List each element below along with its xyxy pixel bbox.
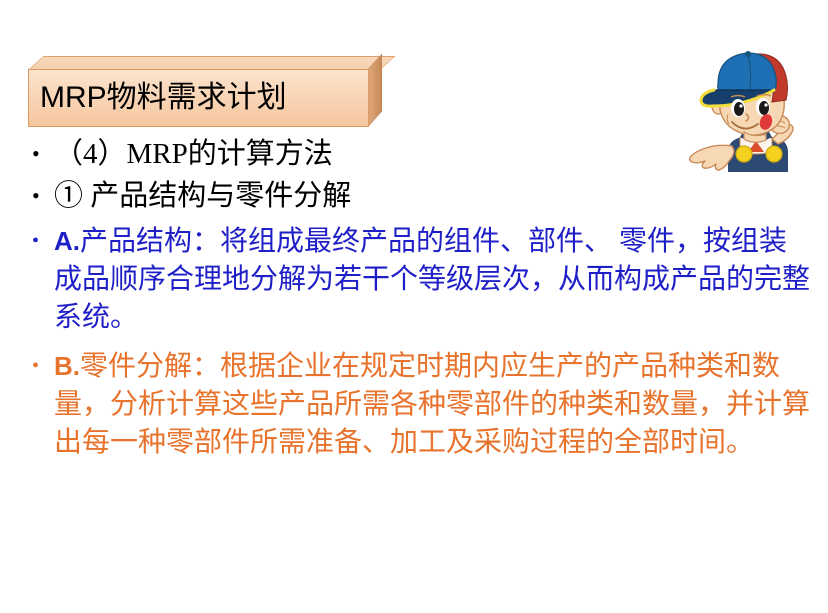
eye-right-glint [764,103,767,106]
cap-crown [718,53,777,92]
eye-left-pupil [734,102,744,116]
bullet-marker-icon: • [20,175,54,217]
bullet-marker-icon: • [20,347,54,385]
bullet-item-2: • ① 产品结构与零件分解 [20,175,810,217]
cartoon-boy-image [688,44,820,172]
bullet-marker-icon: • [20,222,54,260]
cap-top-button [745,51,751,57]
eye-right-pupil [759,101,769,115]
bullet-paragraph-a: A.产品结构：将组成最终产品的组件、部件、 零件，按组装成品顺序合理地分解为若干… [54,222,810,337]
title-box-top-bevel [28,56,396,70]
page-title: MRP物料需求计划 [29,83,287,113]
bullet-item-4: • B.零件分解：根据企业在规定时期内应生产的产品种类和数量，分析计算这些产品所… [20,347,810,462]
bullet-marker-icon: • [20,133,54,175]
paragraph-a-label: A. [54,226,80,256]
left-hand-open [690,145,734,170]
eye-left-glint [739,104,742,107]
slide-body: • （4）MRP的计算方法 • ① 产品结构与零件分解 • A.产品结构：将组成… [20,133,810,462]
bullet-text-2: ① 产品结构与零件分解 [54,175,810,217]
bullet-paragraph-b: B.零件分解：根据企业在规定时期内应生产的产品种类和数量，分析计算这些产品所需各… [54,347,810,462]
paragraph-b-label: B. [54,351,80,381]
title-box-front-face: MRP物料需求计划 [28,69,369,127]
slide-title-box: MRP物料需求计划 [28,56,408,128]
paragraph-b-text: 零件分解：根据企业在规定时期内应生产的产品种类和数量，分析计算这些产品所需各种零… [54,351,810,458]
bullet-item-3: • A.产品结构：将组成最终产品的组件、部件、 零件，按组装成品顺序合理地分解为… [20,222,810,337]
slide-canvas: MRP物料需求计划 • （4）MRP的计算方法 • ① 产品结构与零件分解 • … [0,0,828,613]
overall-button-right [766,146,782,162]
paragraph-a-text: 产品结构：将组成最终产品的组件、部件、 零件，按组装成品顺序合理地分解为若干个等… [54,226,810,333]
overall-button-left [736,146,752,162]
